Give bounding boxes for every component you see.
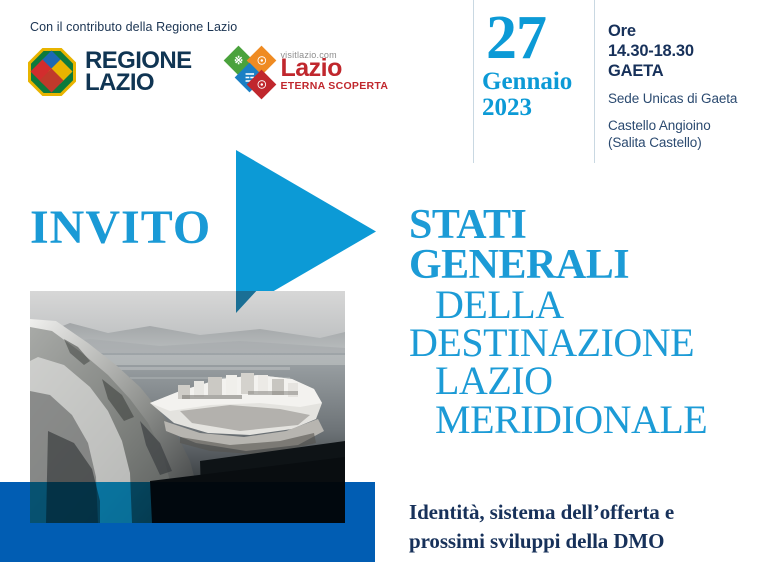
visitlazio-lazio-text: Lazio xyxy=(280,57,388,81)
title-line-3: DELLA xyxy=(409,286,764,323)
regione-lazio-logo: REGIONE LAZIO xyxy=(28,48,191,96)
subtitle-line-2: prossimi sviluppi della DMO xyxy=(409,527,768,556)
regione-lazio-emblem-icon xyxy=(28,48,76,96)
poster-canvas: Con il contributo della Regione Lazio RE… xyxy=(0,0,768,562)
bottom-blue-band-overlay xyxy=(0,482,375,562)
event-place: Castello Angioino xyxy=(608,118,758,135)
play-arrow-icon xyxy=(236,150,376,313)
title-line-4: DESTINAZIONE xyxy=(409,324,764,361)
header-divider-left xyxy=(473,0,474,163)
title-line-1: STATI xyxy=(409,206,764,245)
visitlazio-diamonds-icon: ※ ☉ ☲ ☉ xyxy=(227,48,275,96)
event-city: GAETA xyxy=(608,62,758,82)
event-subtitle: Identità, sistema dell’offerta e prossim… xyxy=(409,498,768,556)
title-line-2: GENERALI xyxy=(409,246,764,285)
event-year: 2023 xyxy=(482,95,587,121)
regione-lazio-wordmark: REGIONE LAZIO xyxy=(85,50,191,95)
header-divider-right xyxy=(594,0,595,163)
logo-row: REGIONE LAZIO ※ ☉ ☲ ☉ visitlazio.com Laz… xyxy=(28,48,388,96)
event-address: (Salita Castello) xyxy=(608,135,758,152)
event-time-label: Ore xyxy=(608,22,758,42)
event-time-range: 14.30-18.30 xyxy=(608,42,758,62)
title-line-6: MERIDIONALE xyxy=(409,401,764,438)
event-venue-block: Ore 14.30-18.30 GAETA Sede Unicas di Gae… xyxy=(608,22,758,152)
invito-heading: INVITO xyxy=(30,204,211,252)
regione-lazio-line-2: LAZIO xyxy=(85,72,191,94)
event-title: STATI GENERALI DELLA DESTINAZIONE LAZIO … xyxy=(409,206,764,438)
visitlazio-wordmark: visitlazio.com Lazio ETERNA SCOPERTA xyxy=(280,48,388,92)
event-month: Gennaio xyxy=(482,68,587,95)
visitlazio-logo: ※ ☉ ☲ ☉ visitlazio.com Lazio ETERNA SCOP… xyxy=(227,48,388,96)
visitlazio-tagline: ETERNA SCOPERTA xyxy=(280,80,388,92)
subtitle-line-1: Identità, sistema dell’offerta e xyxy=(409,498,768,527)
event-date-block: 27 Gennaio 2023 xyxy=(482,12,587,121)
contribution-credit: Con il contributo della Regione Lazio xyxy=(30,20,237,34)
event-site: Sede Unicas di Gaeta xyxy=(608,91,758,108)
event-day: 27 xyxy=(482,12,587,64)
title-line-5: LAZIO xyxy=(409,362,764,399)
